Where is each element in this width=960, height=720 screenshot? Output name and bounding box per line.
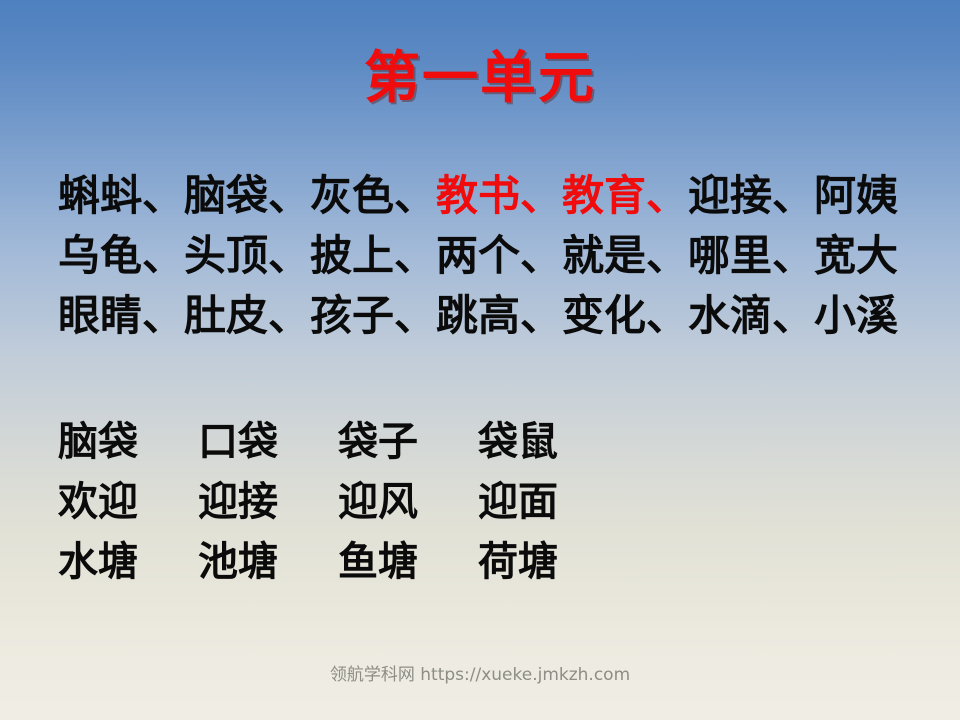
word-family-cell: 荷塘 bbox=[478, 532, 618, 592]
word-family-cell: 迎接 bbox=[198, 472, 338, 532]
word-family-cell: 欢迎 bbox=[58, 472, 198, 532]
word-family-cell: 水塘 bbox=[58, 532, 198, 592]
word-family-row: 欢迎 迎接 迎风 迎面 bbox=[58, 472, 938, 532]
word-family-cell: 脑袋 bbox=[58, 412, 198, 472]
word-family-cell: 迎风 bbox=[338, 472, 478, 532]
vocabulary-segment: 蝌蚪、脑袋、灰色、 bbox=[58, 171, 436, 220]
vocabulary-segment: 迎接、阿姨 bbox=[688, 171, 898, 220]
word-family-cell: 袋子 bbox=[338, 412, 478, 472]
word-family-cell: 池塘 bbox=[198, 532, 338, 592]
vocabulary-word-list: 蝌蚪、脑袋、灰色、教书、教育、迎接、阿姨 乌龟、头顶、披上、两个、就是、哪里、宽… bbox=[58, 166, 938, 346]
slide-canvas: 第一单元 蝌蚪、脑袋、灰色、教书、教育、迎接、阿姨 乌龟、头顶、披上、两个、就是… bbox=[0, 0, 960, 720]
page-title: 第一单元 bbox=[0, 46, 960, 110]
vocabulary-row: 眼睛、肚皮、孩子、跳高、变化、水滴、小溪 bbox=[58, 286, 938, 346]
word-family-groups: 脑袋 口袋 袋子 袋鼠 欢迎 迎接 迎风 迎面 水塘 池塘 鱼塘 荷塘 bbox=[58, 412, 938, 592]
vocabulary-segment: 乌龟、头顶、披上、两个、就是、哪里、宽大 bbox=[58, 231, 898, 280]
vocabulary-row: 乌龟、头顶、披上、两个、就是、哪里、宽大 bbox=[58, 226, 938, 286]
word-family-row: 水塘 池塘 鱼塘 荷塘 bbox=[58, 532, 938, 592]
vocabulary-segment: 眼睛、肚皮、孩子、跳高、变化、水滴、小溪 bbox=[58, 291, 898, 340]
vocabulary-row: 蝌蚪、脑袋、灰色、教书、教育、迎接、阿姨 bbox=[58, 166, 938, 226]
vocabulary-segment-highlighted: 教书、教育、 bbox=[436, 171, 688, 220]
word-family-cell: 鱼塘 bbox=[338, 532, 478, 592]
watermark-text: 领航学科网 https://xueke.jmkzh.com bbox=[0, 664, 960, 686]
word-family-row: 脑袋 口袋 袋子 袋鼠 bbox=[58, 412, 938, 472]
word-family-cell: 口袋 bbox=[198, 412, 338, 472]
word-family-cell: 迎面 bbox=[478, 472, 618, 532]
word-family-cell: 袋鼠 bbox=[478, 412, 618, 472]
